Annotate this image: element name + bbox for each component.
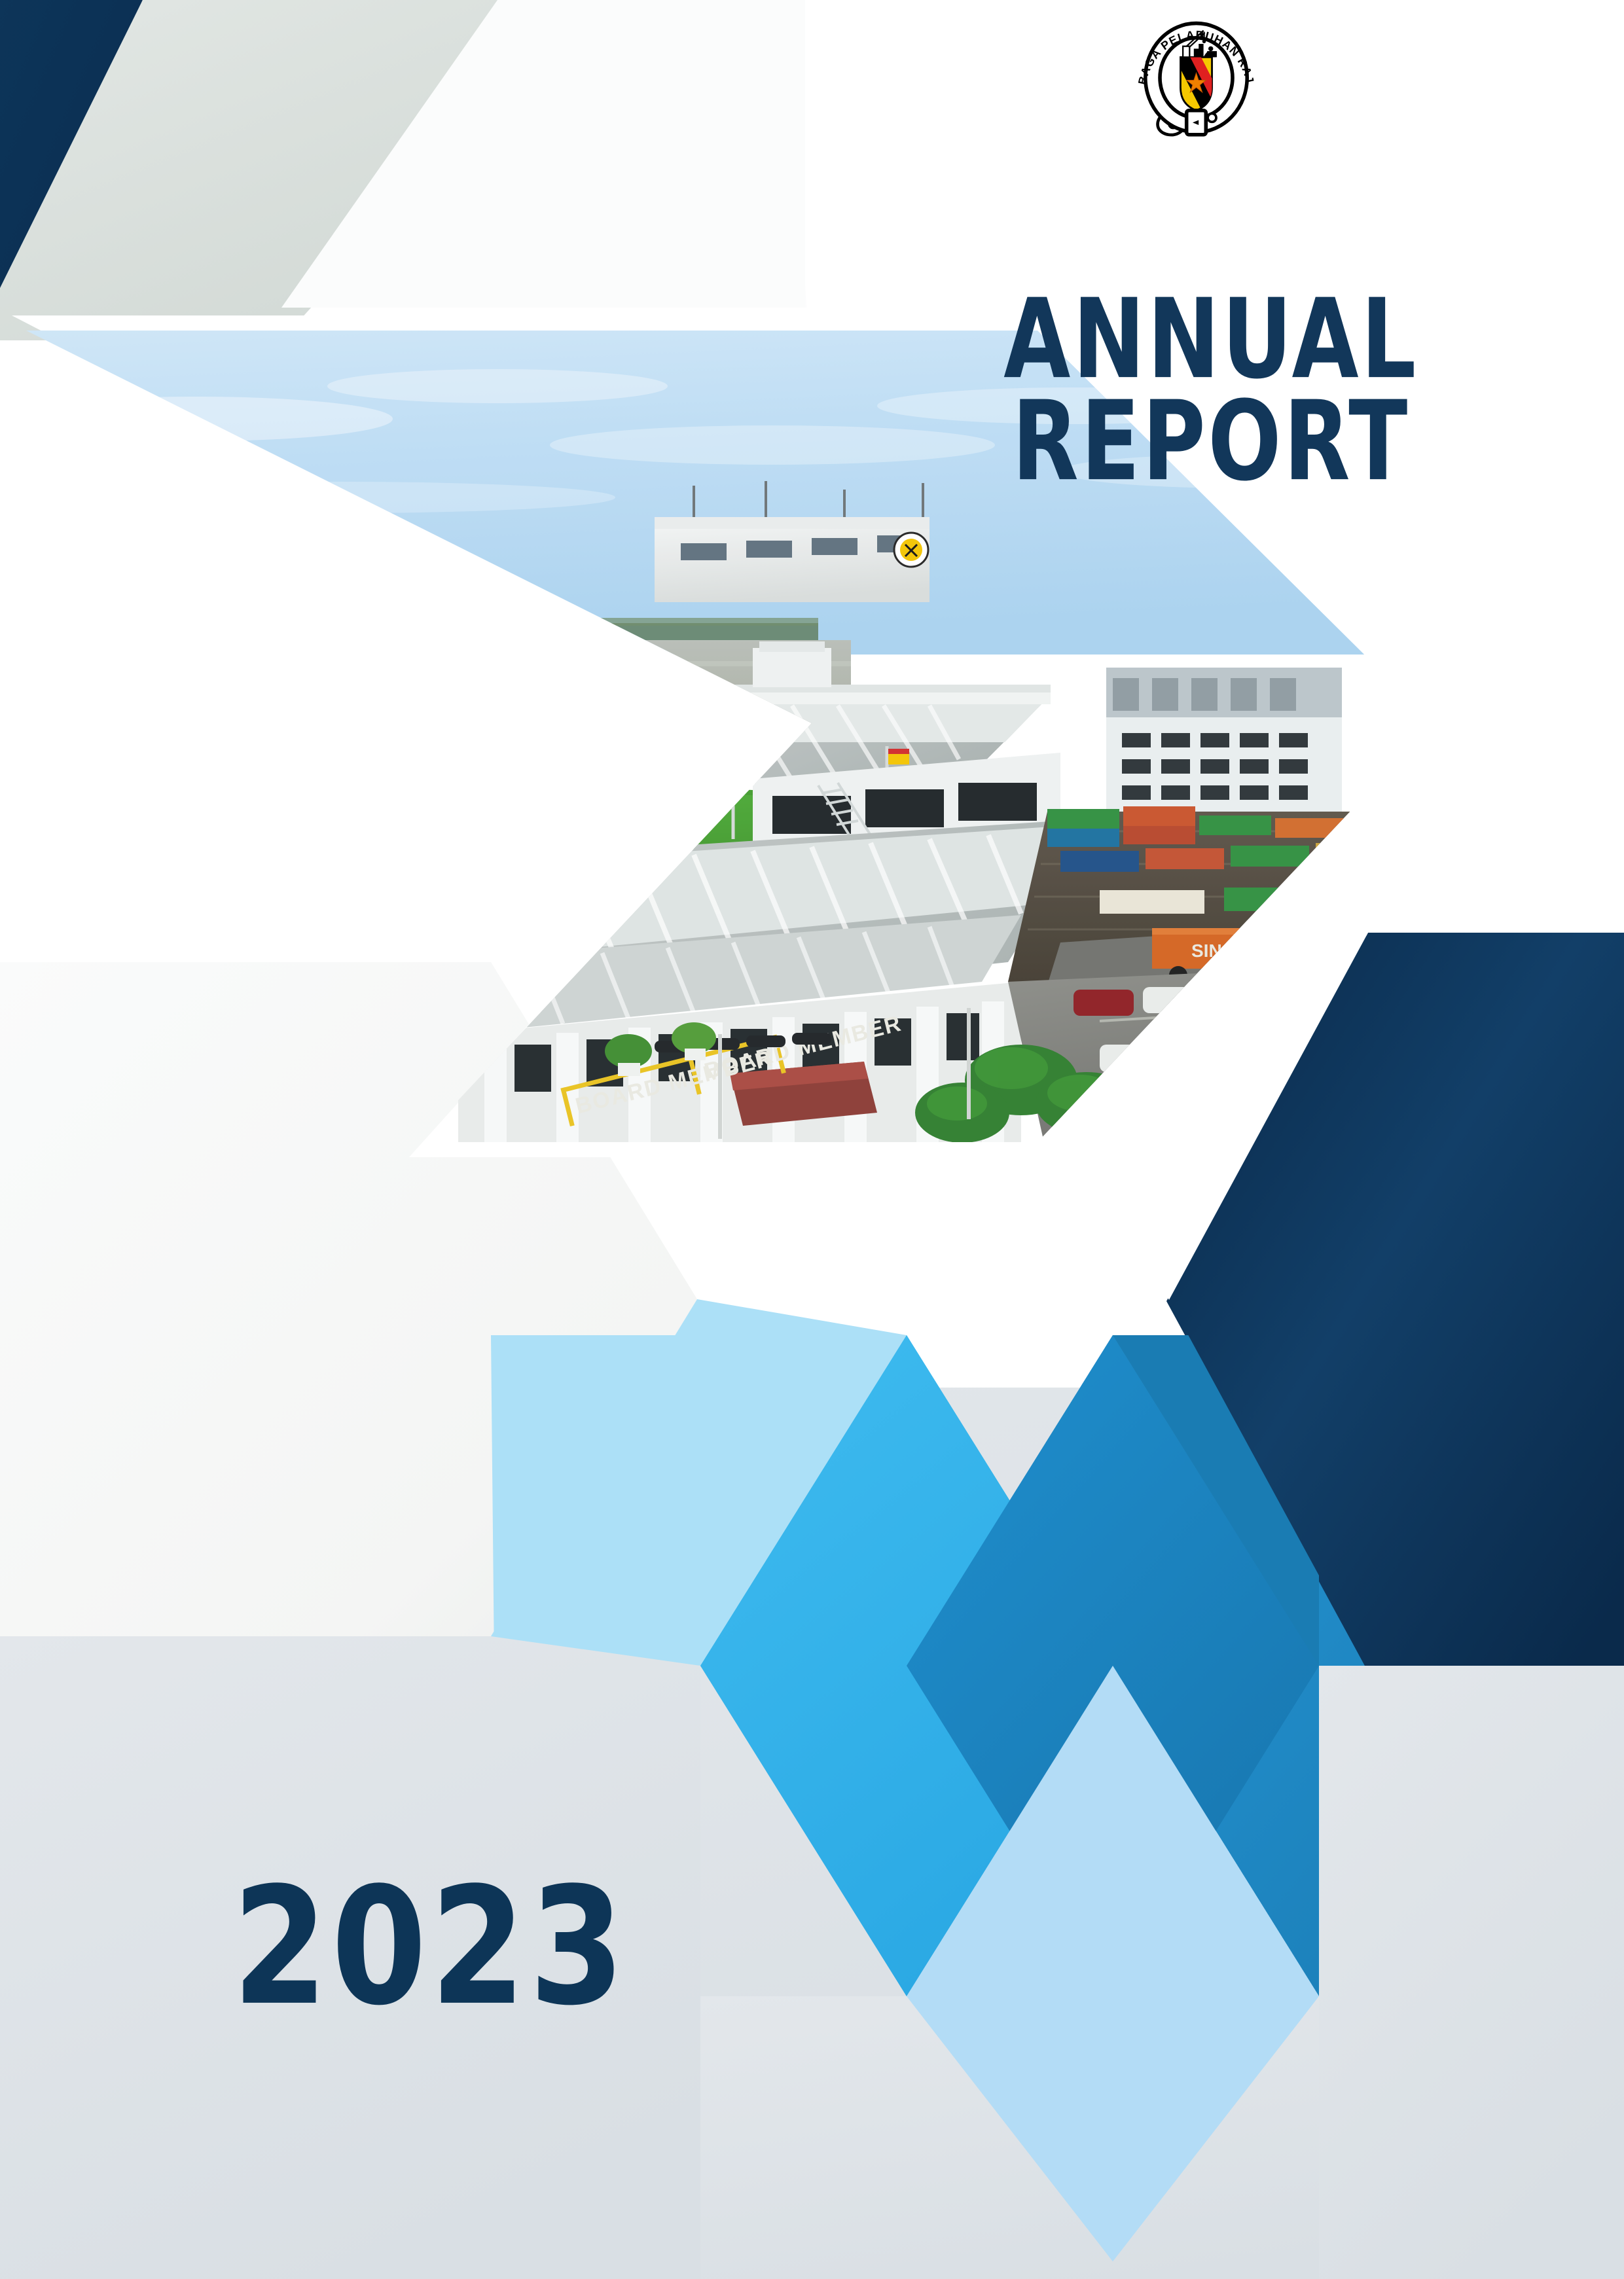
title-line-report: REPORT <box>986 395 1435 488</box>
annual-report-cover: LEMBAGA PELABUHAN RAJANG <box>0 0 1624 2279</box>
cover-year: 2023 <box>232 1867 628 2029</box>
title-line-annual: ANNUAL <box>986 293 1435 386</box>
lembaga-pelabuhan-rajang-logo: LEMBAGA PELABUHAN RAJANG <box>1136 20 1257 141</box>
cover-title: ANNUAL REPORT <box>956 298 1466 484</box>
grey-mask-right-of-diamonds <box>1319 1666 1624 2279</box>
